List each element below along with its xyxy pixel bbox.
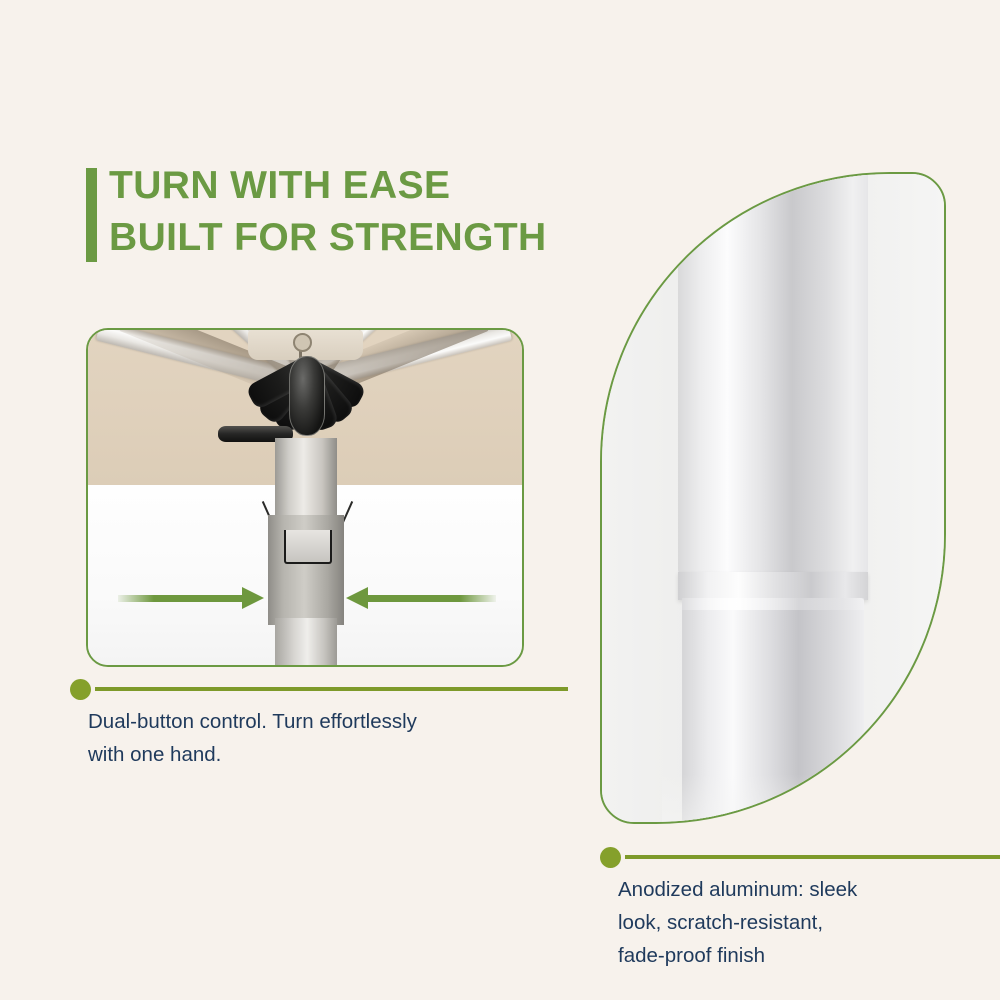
bullet-dot-icon: [70, 679, 91, 700]
left-feature-image-card: [86, 328, 524, 667]
pole-lower-section: [275, 618, 337, 665]
caption-rule: [625, 855, 1000, 859]
tube-bottom-fade: [662, 774, 892, 824]
arrow-pointing-left-icon: [346, 592, 496, 604]
aluminum-tube-upper: [678, 172, 868, 574]
left-caption-text: Dual-button control. Turn effortlessly w…: [88, 705, 417, 771]
bullet-dot-icon: [600, 847, 621, 868]
finial-ring: [293, 333, 312, 352]
right-feature-image-card: [600, 172, 946, 824]
aluminum-tube-seam-highlight: [682, 598, 864, 610]
dual-button-notch: [284, 530, 332, 564]
arrow-head: [346, 587, 368, 609]
arrow-shaft: [118, 595, 246, 602]
headline-lines: TURN WITH EASE BUILT FOR STRENGTH: [109, 160, 649, 264]
caption-rule: [95, 687, 568, 691]
page-title-line-2: BUILT FOR STRENGTH: [109, 212, 649, 264]
arrow-head: [242, 587, 264, 609]
arrow-pointing-right-icon: [118, 592, 266, 604]
aluminum-tube-joint: [678, 572, 868, 600]
page-title-line-1: TURN WITH EASE: [109, 160, 649, 212]
pole-upper-section: [275, 438, 337, 520]
arrow-shaft: [368, 595, 496, 602]
right-caption-text: Anodized aluminum: sleek look, scratch-r…: [618, 873, 857, 972]
umbrella-hub-illustration: [88, 330, 522, 665]
product-feature-page: TURN WITH EASE BUILT FOR STRENGTH: [0, 0, 1000, 1000]
hub-core: [289, 356, 325, 436]
headline-accent-bar: [86, 168, 97, 262]
